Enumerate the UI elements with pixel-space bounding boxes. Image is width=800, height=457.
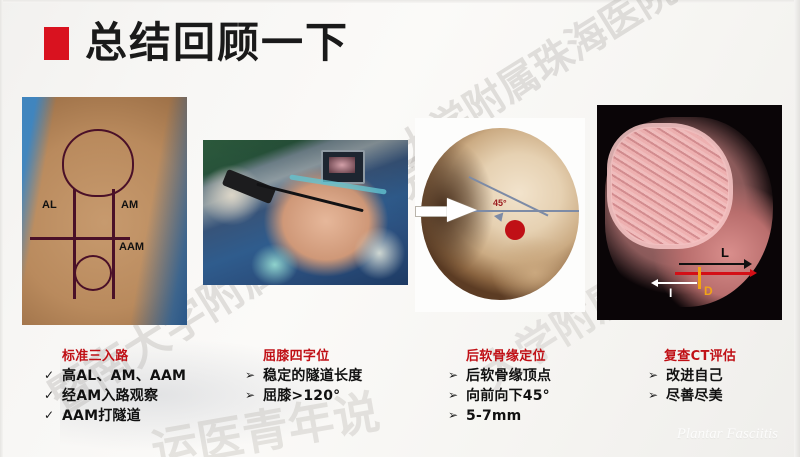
list-item: ➢ 稳定的隧道长度 [245,367,362,386]
arrow-shaft [415,206,451,217]
arrow-bullet-icon: ➢ [448,387,460,403]
list-item: ✓ 高AL、AM、AAM [44,367,186,386]
list-item: ➢ 尽善尽美 [648,387,736,406]
ct-3d-reconstruction-photo: L I D [597,105,782,320]
summary-column-2: 屈膝四字位 ➢ 稳定的隧道长度 ➢ 屈膝>120° [245,345,362,407]
label-i: I [669,286,672,300]
slide-title-row: 总结回顾一下 [44,22,349,64]
measurement-line-red [675,272,751,275]
measurement-marker-d [698,267,701,289]
summary-column-1: 标准三入路 ✓ 高AL、AM、AAM ✓ 经AM入路观察 ✓ AAM打隧道 [44,345,186,427]
list-item-label: 尽善尽美 [666,387,723,406]
check-icon: ✓ [44,407,56,423]
label-al: AL [42,199,57,211]
list-item: ➢ 5-7mm [448,407,551,426]
arrow-bullet-icon: ➢ [245,387,257,403]
label-d: D [704,284,713,298]
arrow-bullet-icon: ➢ [648,367,660,383]
list-item: ➢ 后软骨缘顶点 [448,367,551,386]
marking-line-right [112,189,115,299]
operating-room-scene [203,140,408,285]
marking-tubercle-outline [74,255,112,291]
summary-column-4: 复查CT评估 ➢ 改进自己 ➢ 尽善尽美 [648,345,736,407]
marking-line-left [73,189,76,299]
list-item: ✓ 经AM入路观察 [44,387,186,406]
arrow-bullet-icon: ➢ [245,367,257,383]
label-aam: AAM [119,241,144,253]
ct-cancellous-bone [611,127,729,245]
list-item: ➢ 屈膝>120° [245,387,362,406]
arthroscopic-view-photo: 45° [415,118,585,312]
label-angle-45: 45° [493,198,507,208]
summary-column-3: 后软骨缘定位 ➢ 后软骨缘顶点 ➢ 向前向下45° ➢ 5-7mm [448,345,551,427]
check-icon: ✓ [44,367,56,383]
presentation-slide: 暨南大学附属珠海医院 暨南大学附属珠海医院 大学附属 运医青年说 总结回顾一下 … [0,0,800,457]
target-point-marker [505,220,525,240]
marking-patella-outline [62,129,134,197]
check-icon: ✓ [44,387,56,403]
list-item-label: 高AL、AM、AAM [62,367,186,386]
title-bullet-square [44,27,69,60]
arrow-bullet-icon: ➢ [448,407,460,423]
label-am: AM [121,199,138,211]
column-heading: 屈膝四字位 [263,345,362,364]
list-item-label: 改进自己 [666,367,723,386]
list-item-label: 向前向下45° [466,387,550,406]
slide-signature: Plantar Fasciitis [677,426,778,443]
measurement-arrow-l [679,263,745,265]
knee-portal-markings-photo: AL AM AAM [22,97,187,325]
arrow-bullet-icon: ➢ [448,367,460,383]
column-heading: 标准三入路 [62,345,186,364]
list-item-label: 屈膝>120° [263,387,340,406]
measurement-arrow-i [657,282,697,284]
slide-right-edge [794,0,800,457]
list-item-label: 经AM入路观察 [62,387,158,406]
list-item: ➢ 向前向下45° [448,387,551,406]
list-item: ✓ AAM打隧道 [44,407,186,426]
list-item-label: 稳定的隧道长度 [263,367,362,386]
page-title: 总结回顾一下 [85,22,349,64]
arrow-head [447,198,477,222]
list-item: ➢ 改进自己 [648,367,736,386]
slide-left-edge [0,0,3,457]
arrow-bullet-icon: ➢ [648,387,660,403]
operating-room-arthroscopy-photo [203,140,408,285]
slide-top-edge [0,0,800,3]
white-pointer-arrow-icon [415,198,479,222]
column-heading: 复查CT评估 [664,345,736,364]
list-item-label: 5-7mm [466,407,521,426]
list-item-label: 后软骨缘顶点 [466,367,551,386]
marking-line-horizontal [30,237,130,240]
angle-ray-horizontal [469,210,579,212]
list-item-label: AAM打隧道 [62,407,141,426]
arthroscopy-monitor [321,150,365,184]
column-heading: 后软骨缘定位 [466,345,551,364]
label-l: L [721,245,729,260]
